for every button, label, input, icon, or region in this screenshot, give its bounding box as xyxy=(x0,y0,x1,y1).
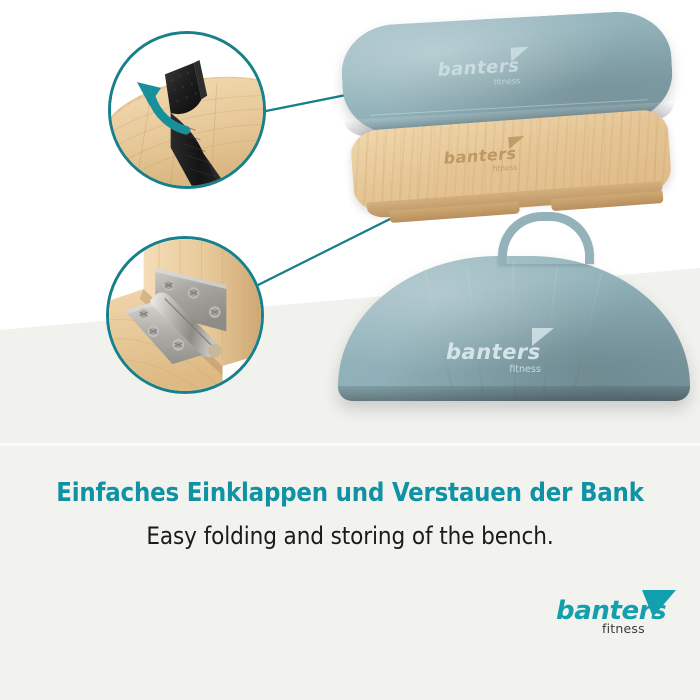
product-exploded-view: banters fitness banters fitness xyxy=(330,8,700,418)
bag-brand-mark: banters fitness xyxy=(446,342,541,375)
bag-crease xyxy=(574,274,602,387)
headline-english: Easy folding and storing of the bench. xyxy=(0,522,700,550)
board-brand-sub: fitness xyxy=(444,164,517,177)
caption-block: Einfaches Einklappen und Verstauen der B… xyxy=(0,478,700,550)
board-brand-mark: banters fitness xyxy=(443,146,518,177)
hinge-detail-circle xyxy=(106,236,264,394)
hinge-detail-illustration xyxy=(109,239,261,391)
cushion-brand-triangle-icon xyxy=(511,47,530,62)
brand-logo-tagline: fitness xyxy=(602,623,645,636)
carry-bag: banters fitness xyxy=(338,256,690,401)
bag-brand-sub: fitness xyxy=(446,365,541,375)
board-brand-triangle-icon xyxy=(508,136,525,149)
cushion-brand-word: banters xyxy=(437,57,520,80)
bag-crease xyxy=(424,272,453,389)
velcro-strap-detail-circle xyxy=(108,31,266,189)
velcro-detail-illustration xyxy=(111,34,263,186)
board-brand-word: banters xyxy=(443,146,517,167)
bag-crease xyxy=(466,266,484,393)
bag-brand-word: banters xyxy=(446,342,541,363)
headline-german: Einfaches Einklappen und Verstauen der B… xyxy=(0,478,700,508)
cushion-brand-sub: fitness xyxy=(438,77,520,90)
brand-triangle-icon xyxy=(642,590,678,620)
cushion-brand-mark: banters fitness xyxy=(437,57,520,90)
bag-bottom-edge xyxy=(338,386,690,401)
bag-crease xyxy=(512,262,516,396)
bag-crease xyxy=(543,266,558,394)
brand-logo: banters fitness xyxy=(556,596,678,642)
carry-bag-handle[interactable] xyxy=(498,212,594,264)
marketing-image-canvas: banters fitness banters fitness xyxy=(0,0,700,700)
